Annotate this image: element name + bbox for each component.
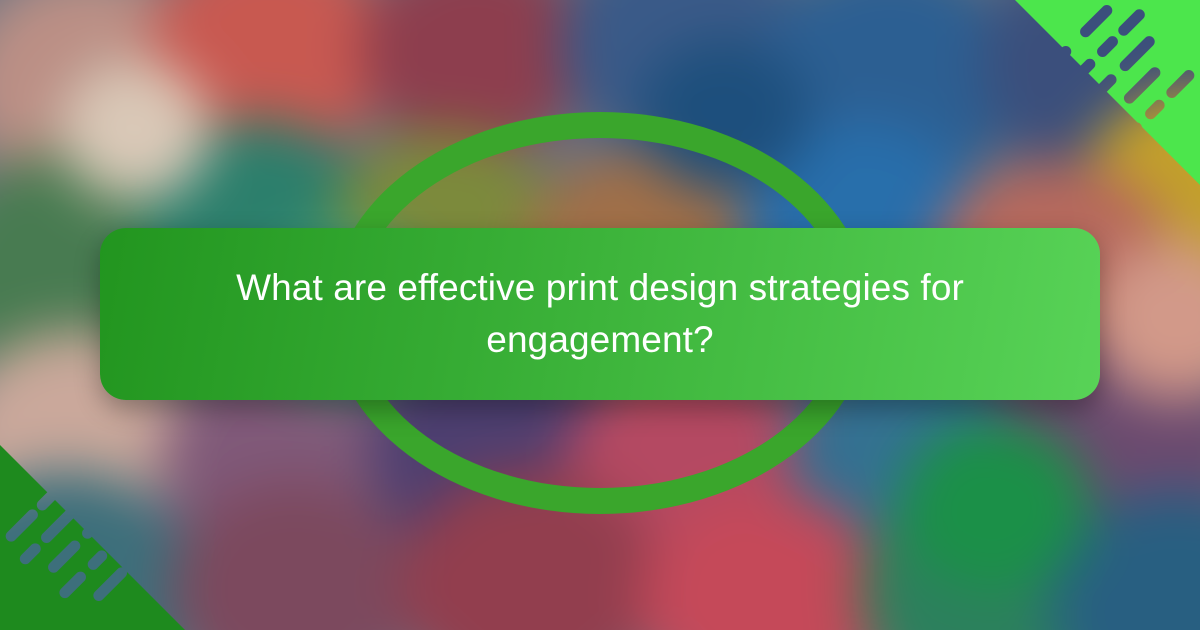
background-blob xyxy=(360,0,590,150)
og-question-card: What are effective print design strategi… xyxy=(0,0,1200,630)
background-blob xyxy=(60,60,210,200)
background-blob xyxy=(900,420,1090,590)
background-blob xyxy=(640,40,810,190)
question-title: What are effective print design strategi… xyxy=(160,262,1040,366)
question-banner: What are effective print design strategi… xyxy=(100,228,1100,400)
